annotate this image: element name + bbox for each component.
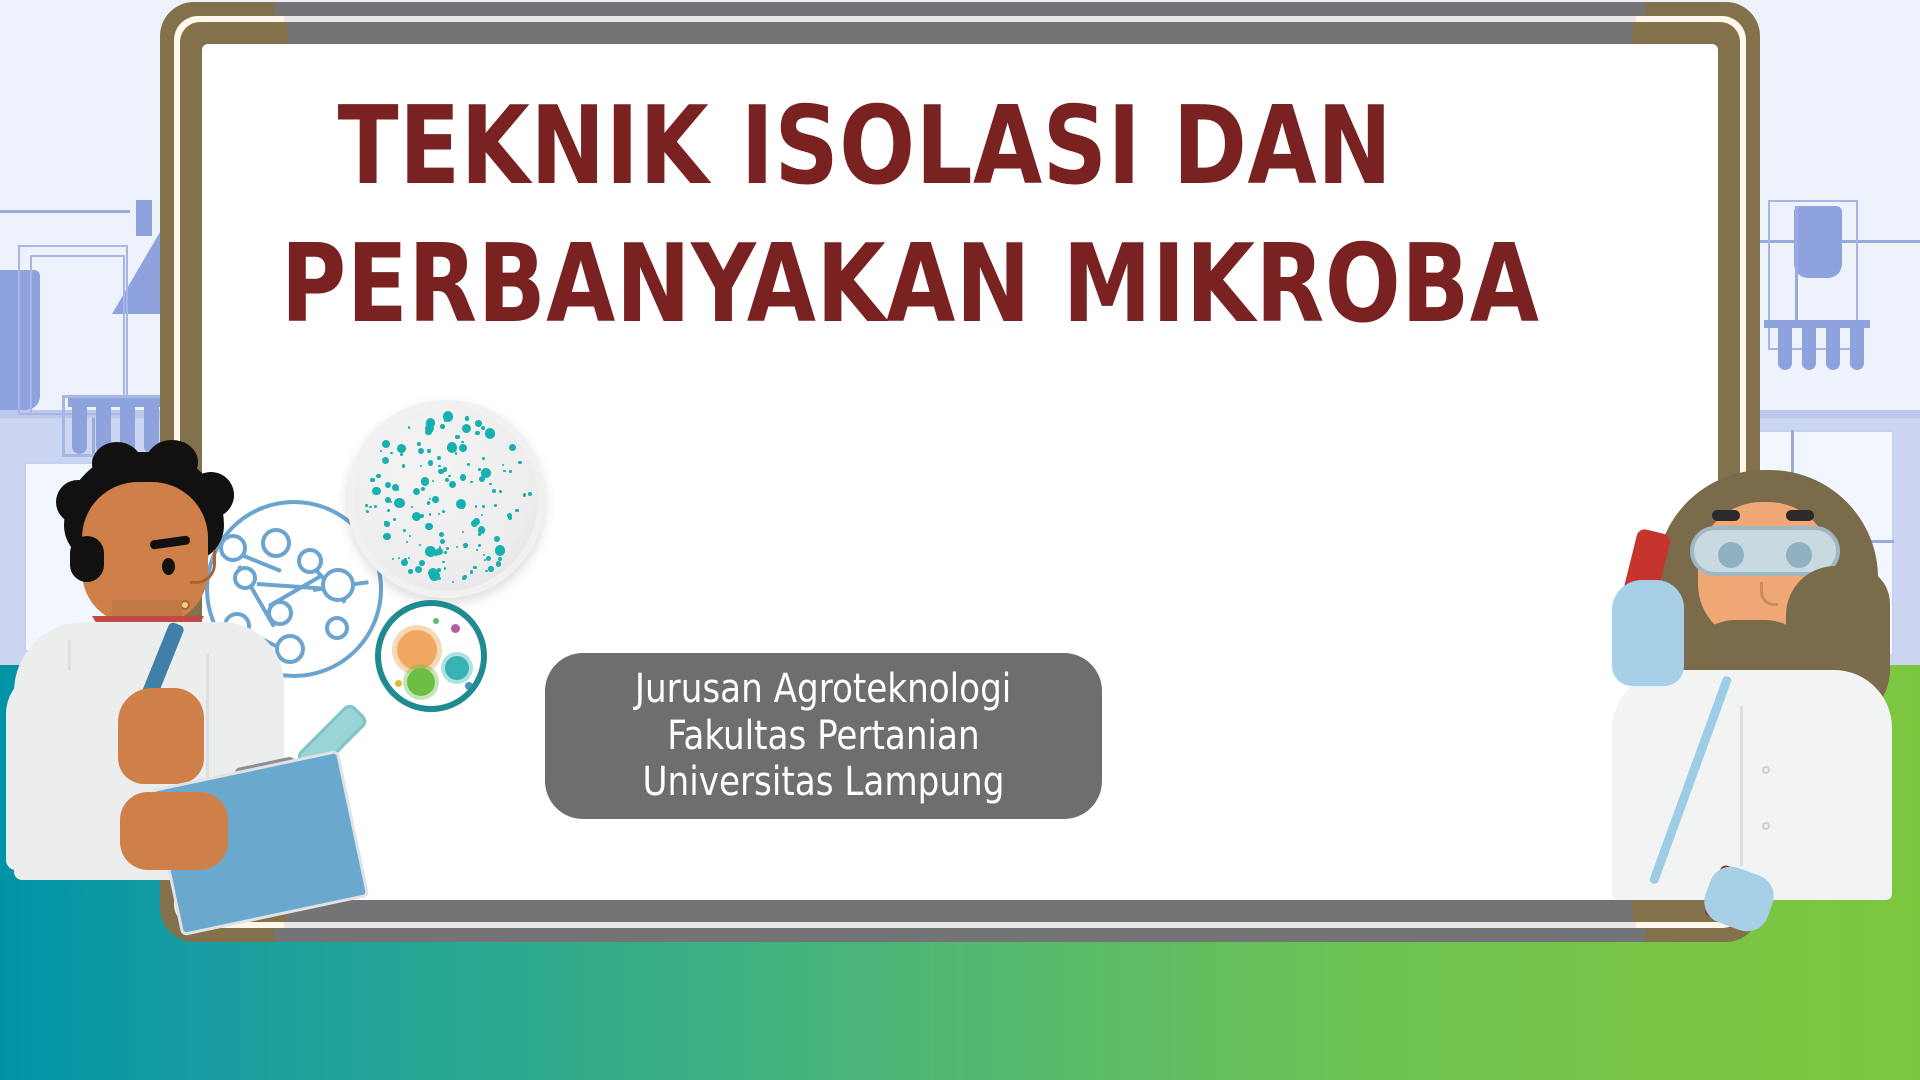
bacterial-colony — [502, 464, 504, 466]
bacterial-colony — [498, 557, 502, 561]
bacterial-colony — [387, 509, 390, 512]
stand-frame-left-2 — [18, 245, 128, 415]
bacterial-colony — [459, 444, 467, 452]
test-tube-icon — [1850, 322, 1864, 370]
bacterial-colony — [495, 545, 505, 555]
bacterial-colony — [478, 533, 480, 535]
bacterial-colony — [419, 544, 421, 546]
bacterial-colony — [515, 509, 519, 513]
microbe-dot — [465, 682, 473, 690]
microbe-green — [407, 668, 435, 696]
bacterial-colony — [463, 543, 468, 548]
bacterial-colony — [473, 566, 477, 570]
bacterial-colony — [492, 489, 496, 493]
bacterial-colony — [403, 529, 406, 532]
bacterial-colony — [428, 460, 433, 465]
bacterial-colony — [382, 457, 389, 464]
goggle-lens — [1786, 542, 1812, 568]
magnifier-lens-icon — [375, 600, 487, 712]
bacterial-colony — [444, 567, 446, 569]
bacterial-colony — [460, 503, 465, 508]
bacterial-colony — [429, 498, 431, 500]
bacterial-colony — [419, 560, 425, 566]
bacterial-colony — [437, 456, 441, 460]
microbe-dot — [433, 618, 439, 624]
bacterial-colony — [427, 501, 430, 504]
bacterial-colony — [370, 478, 375, 483]
bacterial-colony — [488, 566, 493, 571]
bacterial-colony — [439, 532, 444, 537]
bacterial-colony — [442, 510, 445, 513]
scientist-right-illustration — [1590, 470, 1920, 880]
bacterial-colony — [402, 464, 406, 468]
bacterial-colony — [528, 492, 532, 496]
microbe-teal — [445, 656, 469, 680]
bacterial-colony — [385, 482, 391, 488]
bacterial-colony — [397, 489, 399, 491]
bacterial-colony — [390, 452, 393, 455]
hair-fringe — [70, 536, 104, 582]
subtitle-line-3: Universitas Lampung — [643, 759, 1005, 806]
microbe-dot — [395, 680, 402, 687]
bacterial-colony — [479, 476, 485, 482]
bacterial-colony — [446, 547, 449, 550]
bacterial-colony — [429, 513, 431, 515]
bacterial-colony — [382, 440, 390, 448]
bacterial-colony — [481, 514, 483, 516]
bacterial-colony — [452, 581, 454, 583]
bacterial-colony — [425, 429, 431, 435]
microbe-orange — [397, 630, 437, 670]
shelf-line-left — [0, 210, 130, 213]
coat-seam — [206, 654, 209, 794]
bacterial-colony — [449, 481, 456, 488]
microbe-dot — [451, 624, 460, 633]
bacterial-colony — [440, 539, 445, 544]
bacterial-colony — [421, 477, 430, 486]
bacterial-colony — [509, 470, 512, 473]
bacterial-colony — [482, 457, 485, 460]
bacterial-colony — [461, 441, 463, 443]
bacterial-colony — [489, 483, 492, 486]
bacterial-colony — [415, 566, 422, 573]
bacterial-colony — [398, 557, 400, 559]
eye-shape — [162, 558, 175, 575]
bacterial-colony — [409, 535, 411, 537]
bacterial-colony — [463, 575, 467, 579]
bacterial-colony — [427, 449, 430, 452]
bacterial-colony — [390, 501, 392, 503]
bacterial-colony — [369, 506, 371, 508]
bacterial-colony — [400, 453, 403, 456]
slide-canvas: TEKNIK ISOLASI DAN PERBANYAKAN MIKROBA J… — [0, 0, 1920, 1080]
bacterial-colony — [467, 463, 470, 466]
bacterial-colony — [509, 444, 516, 451]
bacterial-colony — [482, 505, 485, 508]
bacterial-colony — [365, 504, 368, 507]
bacterial-colony — [408, 557, 410, 559]
bacterial-colony — [508, 516, 512, 520]
bacterial-colony — [432, 480, 434, 482]
bacterial-colony — [486, 556, 491, 561]
bacterial-colony — [475, 431, 479, 435]
bacterial-colony — [475, 505, 477, 507]
coat-button — [1762, 766, 1770, 774]
bacterial-colony — [394, 498, 405, 509]
bacterial-colony — [462, 424, 472, 434]
bacterial-colony — [499, 490, 502, 493]
bacterial-colony — [471, 520, 478, 527]
hair-curl — [146, 440, 198, 484]
bacterial-colony — [494, 504, 497, 507]
bacterial-colony — [503, 470, 505, 472]
bacterial-colony — [447, 442, 457, 452]
bacterial-colony — [476, 549, 478, 551]
bacterial-colony — [445, 478, 449, 482]
bacterial-colony — [376, 474, 381, 479]
glove-shape — [1612, 580, 1684, 686]
bacterial-colony — [485, 570, 487, 572]
bacterial-colony — [462, 531, 464, 533]
bacterial-colony — [523, 493, 527, 497]
scientist-left-illustration — [0, 440, 330, 880]
bacterial-colony — [485, 428, 496, 439]
goggle-lens — [1718, 542, 1744, 568]
bacterial-colony — [411, 506, 413, 508]
bacterial-colony — [433, 550, 440, 557]
bacterial-colony — [438, 577, 441, 580]
bacterial-colony — [470, 481, 472, 483]
bacterial-colony — [406, 541, 408, 543]
bacterial-colony — [426, 418, 435, 427]
bacterial-colony — [484, 559, 486, 561]
bacterial-colony — [444, 551, 446, 553]
bacterial-colony — [494, 536, 501, 543]
bacterial-colony — [366, 510, 369, 513]
bacterial-colony — [417, 442, 421, 446]
eyebrow-shape — [1712, 510, 1740, 521]
subtitle-box: Jurusan Agroteknologi Fakultas Pertanian… — [545, 653, 1102, 819]
coat-seam — [1740, 706, 1743, 866]
bacterial-colony — [432, 496, 439, 503]
bacterial-colony — [443, 467, 448, 472]
test-tube-icon — [1802, 322, 1816, 370]
hair-curl — [92, 442, 142, 486]
flask-neck-icon — [136, 200, 152, 236]
bacterial-colony — [443, 411, 453, 421]
subtitle-line-2: Fakultas Pertanian — [667, 713, 979, 760]
bacterial-colony — [460, 474, 466, 480]
bacterial-colony — [372, 487, 381, 496]
bacterial-colony — [421, 487, 425, 491]
nose-shape — [190, 550, 216, 584]
test-tube-icon — [1826, 322, 1840, 370]
subtitle-line-1: Jurusan Agroteknologi — [635, 666, 1011, 713]
bacterial-colony — [380, 450, 382, 452]
bacterial-colony — [465, 416, 470, 421]
bacterial-colony — [408, 569, 413, 574]
bacterial-colony — [428, 568, 438, 578]
bacterial-colony — [397, 444, 406, 453]
bacterial-colony — [438, 513, 440, 515]
bacterial-colony — [418, 448, 424, 454]
bacterial-colony — [392, 558, 394, 560]
bacterial-colony — [470, 570, 473, 573]
hand-shape-lower — [120, 792, 228, 870]
bacterial-colony — [401, 559, 408, 566]
bacterial-colony — [518, 461, 521, 464]
bacterial-colony — [496, 561, 502, 567]
bacterial-colony — [413, 488, 420, 495]
bacterial-colony — [425, 523, 433, 531]
bacterial-colony — [438, 465, 440, 467]
coat-button — [1762, 822, 1770, 830]
bacterial-colony — [420, 514, 425, 519]
bacterial-colony — [455, 452, 457, 454]
hand-shape — [118, 688, 204, 784]
bacterial-colony — [440, 424, 445, 429]
bacterial-colony — [448, 475, 451, 478]
bacterial-colony — [383, 533, 391, 541]
bacterial-colony — [483, 554, 485, 556]
bacterial-colony — [393, 518, 396, 521]
bacterial-colony — [420, 465, 422, 467]
bacterial-colony — [456, 546, 458, 548]
bacterial-colony — [478, 544, 481, 547]
bacterial-colony — [442, 561, 444, 563]
test-tube-icon — [1778, 322, 1792, 370]
bacterial-colony — [455, 435, 459, 439]
bacterial-colony — [481, 427, 483, 429]
bacterial-colony — [374, 505, 377, 508]
eyebrow-shape — [1786, 510, 1814, 521]
arm-shape — [6, 670, 98, 870]
bacterial-colony — [408, 426, 411, 429]
petri-dish-colonies-icon — [347, 400, 545, 598]
